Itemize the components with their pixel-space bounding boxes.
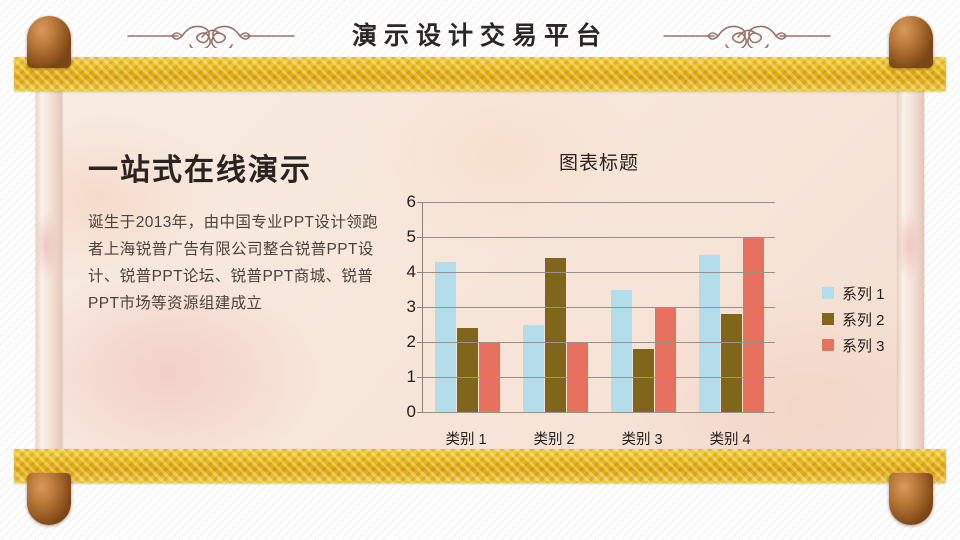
- plot-grid: [422, 202, 774, 412]
- scroll-knob-bottom-right: [889, 473, 933, 525]
- y-axis-tick: [417, 202, 423, 203]
- gridline: [423, 307, 775, 308]
- filigree-ornament-left-icon: [126, 24, 296, 48]
- bar: [523, 325, 544, 413]
- body-paragraph: 诞生于2013年，由中国专业PPT设计领跑者上海锐普广告有限公司整合锐普PPT设…: [88, 209, 380, 317]
- legend-label: 系列 1: [842, 283, 885, 304]
- y-axis-tick: [417, 377, 423, 378]
- legend-swatch: [822, 313, 834, 325]
- bar: [545, 258, 566, 412]
- gridline: [423, 377, 775, 378]
- y-axis-tick-label: 5: [390, 227, 416, 247]
- scroll-knob-bottom-left: [27, 473, 71, 525]
- y-axis-tick-label: 3: [390, 297, 416, 317]
- x-axis-tick-label: 类别 2: [510, 428, 598, 449]
- y-axis-tick: [417, 307, 423, 308]
- bar: [743, 237, 764, 412]
- legend-item[interactable]: 系列 2: [822, 306, 918, 332]
- legend-label: 系列 3: [842, 335, 885, 356]
- bar: [721, 314, 742, 412]
- legend-item[interactable]: 系列 3: [822, 332, 918, 358]
- y-axis-tick-label: 6: [390, 192, 416, 212]
- y-axis-tick: [417, 272, 423, 273]
- y-axis-tick: [417, 237, 423, 238]
- y-axis-tick-label: 2: [390, 332, 416, 352]
- gridline: [423, 272, 775, 273]
- legend-swatch: [822, 287, 834, 299]
- chart-title: 图表标题: [390, 148, 808, 175]
- bar: [633, 349, 654, 412]
- x-axis-tick-label: 类别 3: [598, 428, 686, 449]
- y-axis-labels: 0123456: [390, 202, 416, 412]
- bar: [457, 328, 478, 412]
- filigree-ornament-right-icon: [662, 24, 832, 48]
- bar: [435, 262, 456, 413]
- y-axis-tick-label: 1: [390, 367, 416, 387]
- legend-swatch: [822, 339, 834, 351]
- y-axis-tick-label: 0: [390, 402, 416, 422]
- y-axis-tick-label: 4: [390, 262, 416, 282]
- x-axis-tick-label: 类别 1: [422, 428, 510, 449]
- bar-chart: 图表标题 0123456 类别 1类别 2类别 3类别 4 系列 1系列 2系列…: [390, 140, 920, 450]
- chart-legend: 系列 1系列 2系列 3: [822, 280, 918, 358]
- y-axis-tick: [417, 342, 423, 343]
- slide-canvas: 演示设计交易平台: [0, 0, 960, 540]
- text-column: 一站式在线演示 诞生于2013年，由中国专业PPT设计领跑者上海锐普广告有限公司…: [88, 145, 380, 317]
- bar: [699, 255, 720, 413]
- x-axis-labels: 类别 1类别 2类别 3类别 4: [422, 428, 774, 449]
- headline: 一站式在线演示: [88, 145, 380, 189]
- bar: [655, 307, 676, 412]
- plot-area: 0123456: [390, 202, 808, 422]
- gridline: [423, 412, 775, 413]
- scroll-rod-texture: [36, 207, 62, 303]
- y-axis-tick: [417, 412, 423, 413]
- gridline: [423, 342, 775, 343]
- scroll-knob-top-left: [27, 16, 71, 68]
- legend-label: 系列 2: [842, 309, 885, 330]
- gold-band-top: [14, 57, 946, 91]
- scroll-rod-left: [36, 57, 62, 483]
- slide-header: 演示设计交易平台: [0, 0, 960, 62]
- legend-item[interactable]: 系列 1: [822, 280, 918, 306]
- gold-band-bottom: [14, 449, 946, 483]
- scroll-knob-top-right: [889, 16, 933, 68]
- gridline: [423, 202, 775, 203]
- gridline: [423, 237, 775, 238]
- x-axis-tick-label: 类别 4: [686, 428, 774, 449]
